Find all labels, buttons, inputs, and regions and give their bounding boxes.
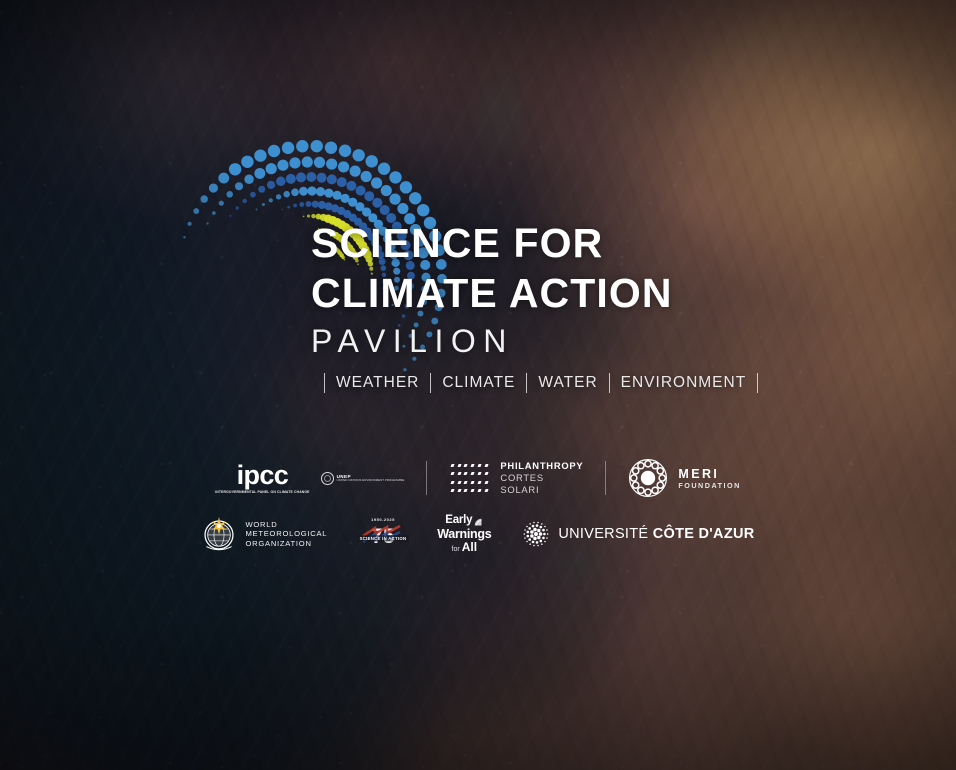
tick-mark	[450, 489, 454, 492]
uca-text-bold: CÔTE D'AZUR	[653, 526, 755, 542]
tick-mark	[457, 464, 461, 467]
tick-mark	[484, 472, 488, 475]
tick-mark	[464, 481, 468, 484]
wmo-line-3: ORGANIZATION	[245, 539, 327, 549]
tick-mark	[477, 481, 481, 484]
tagline-item-environment: ENVIRONMENT	[621, 374, 747, 392]
pcs-line-3: SOLARI	[500, 484, 583, 496]
ewa-word-warnings: Warnings	[437, 528, 491, 541]
ewa-row-1: Early	[445, 515, 483, 527]
tagline-item-weather: WEATHER	[336, 374, 419, 392]
wordmark: SCIENCE FOR CLIMATE ACTION PAVILION WEAT…	[311, 218, 731, 393]
tick-grid-icon	[449, 462, 489, 495]
tick-mark	[457, 489, 461, 492]
partner-logo-universite-cote-dazur[interactable]: UNIVERSITÉ CÔTE D'AZUR	[523, 521, 754, 547]
partner-divider	[605, 461, 606, 495]
tick-mark	[484, 489, 488, 492]
partner-logo-wmo-75[interactable]: 1950-2025 75 SCIENCE IN ACTION	[353, 515, 413, 553]
tagline-strip: WEATHER CLIMATE WATER ENVIRONMENT	[313, 373, 731, 393]
ewa-word-all: All	[462, 541, 477, 553]
tick-mark	[477, 472, 481, 475]
ewa-word-early: Early	[445, 515, 472, 527]
partner-logo-ipcc[interactable]: ipcc INTERGOVERNMENTAL PANEL ON CLIMATE …	[215, 462, 404, 494]
title-line-1: SCIENCE FOR	[311, 218, 731, 268]
ipcc-subtext: INTERGOVERNMENTAL PANEL ON CLIMATE CHANG…	[215, 490, 309, 494]
wmo-globe-emblem-icon	[201, 516, 237, 552]
meri-wordmark: MERI FOUNDATION	[678, 467, 740, 490]
partner-logo-early-warnings-for-all[interactable]: Early Warnings for All	[437, 515, 491, 553]
tick-mark	[471, 481, 475, 484]
meri-star-emblem-icon	[628, 458, 668, 498]
tick-mark	[464, 472, 468, 475]
pcs-line-1: PHILANTHROPY	[500, 460, 583, 472]
ewa-word-for: for	[452, 546, 460, 553]
tick-mark	[450, 472, 454, 475]
partner-logos: ipcc INTERGOVERNMENTAL PANEL ON CLIMATE …	[0, 452, 956, 556]
ewa-row-3: for All	[452, 541, 478, 553]
partner-row-secondary: WORLD METEOROLOGICAL ORGANIZATION 1950-2…	[0, 512, 956, 556]
tick-mark	[450, 481, 454, 484]
svg-text:SCIENCE IN ACTION: SCIENCE IN ACTION	[360, 536, 407, 541]
subtitle-pavilion: PAVILION	[311, 321, 731, 361]
tick-mark	[484, 481, 488, 484]
uca-wordmark: UNIVERSITÉ CÔTE D'AZUR	[558, 526, 754, 542]
tick-mark	[477, 489, 481, 492]
tagline-item-water: WATER	[538, 374, 597, 392]
svg-text:1950-2025: 1950-2025	[371, 517, 395, 522]
meri-line-1: MERI	[678, 467, 740, 481]
wmo-75-anniversary-icon: 1950-2025 75 SCIENCE IN ACTION	[353, 515, 413, 553]
un-badge-text: UNEP UNITED NATIONS ENVIRONMENT PROGRAMM…	[337, 474, 405, 482]
tick-mark	[450, 464, 454, 467]
partner-logo-philanthropy-cortes-solari[interactable]: PHILANTHROPY CORTES SOLARI	[449, 460, 583, 496]
early-warning-signal-icon	[474, 518, 483, 527]
tick-mark	[484, 464, 488, 467]
partner-logo-wmo[interactable]: WORLD METEOROLOGICAL ORGANIZATION	[201, 516, 327, 552]
ipcc-wordmark: ipcc	[237, 462, 289, 488]
un-emblem-icon	[321, 472, 334, 485]
tagline-separator	[430, 373, 431, 393]
tagline-separator	[757, 373, 758, 393]
wmo-line-1: WORLD	[245, 520, 327, 530]
meri-line-2: FOUNDATION	[678, 481, 740, 490]
title-line-2: CLIMATE ACTION	[311, 268, 731, 318]
wmo-wordmark: WORLD METEOROLOGICAL ORGANIZATION	[245, 520, 327, 549]
partner-logo-meri-foundation[interactable]: MERI FOUNDATION	[628, 458, 740, 498]
tick-mark	[471, 464, 475, 467]
tick-mark	[457, 472, 461, 475]
partner-row-primary: ipcc INTERGOVERNMENTAL PANEL ON CLIMATE …	[0, 452, 956, 504]
tagline-separator	[526, 373, 527, 393]
tick-mark	[471, 472, 475, 475]
uca-text-light: UNIVERSITÉ	[558, 526, 648, 542]
dotted-circle-emblem-icon	[523, 521, 549, 547]
tick-mark	[464, 464, 468, 467]
tagline-item-climate: CLIMATE	[442, 374, 515, 392]
tagline-separator	[609, 373, 610, 393]
partner-divider	[426, 461, 427, 495]
un-badge-line-2: UNITED NATIONS ENVIRONMENT PROGRAMME	[337, 479, 405, 482]
ipcc-un-badge: UNEP UNITED NATIONS ENVIRONMENT PROGRAMM…	[321, 472, 405, 485]
tagline-separator	[324, 373, 325, 393]
tick-mark	[471, 489, 475, 492]
ewa-wordmark: Early Warnings for All	[437, 515, 491, 553]
banner-stage: SCIENCE FOR CLIMATE ACTION PAVILION WEAT…	[0, 0, 956, 770]
ipcc-wordmark-stack: ipcc INTERGOVERNMENTAL PANEL ON CLIMATE …	[215, 462, 309, 494]
pcs-line-2: CORTES	[500, 472, 583, 484]
pcs-wordmark: PHILANTHROPY CORTES SOLARI	[500, 460, 583, 496]
tick-mark	[457, 481, 461, 484]
tick-mark	[464, 489, 468, 492]
tick-mark	[477, 464, 481, 467]
wmo-line-2: METEOROLOGICAL	[245, 529, 327, 539]
